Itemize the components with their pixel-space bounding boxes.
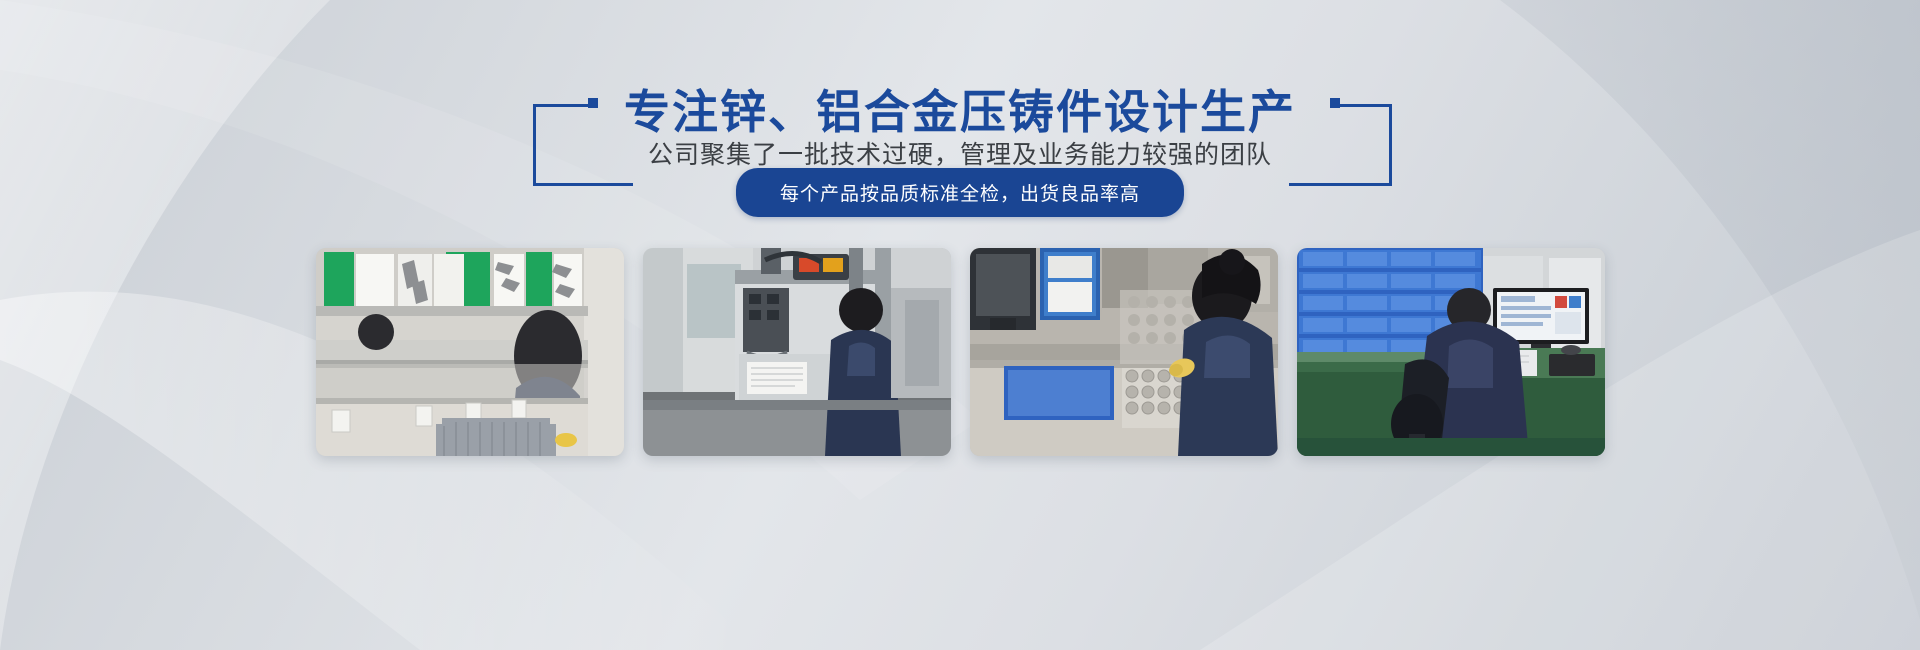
photo-card-quality-check[interactable] bbox=[970, 248, 1278, 456]
photo-gallery bbox=[0, 248, 1920, 456]
photo-card-machining-center[interactable] bbox=[643, 248, 951, 456]
page-subtitle: 公司聚集了一批技术过硬，管理及业务能力较强的团队 bbox=[0, 143, 1920, 168]
banner-root: 专注锌、铝合金压铸件设计生产 公司聚集了一批技术过硬，管理及业务能力较强的团队 … bbox=[0, 0, 1920, 650]
page-title: 专注锌、铝合金压铸件设计生产 bbox=[0, 89, 1920, 135]
photo-card-office-workstation[interactable] bbox=[1297, 248, 1605, 456]
quality-check-image bbox=[970, 248, 1278, 456]
headline-block: 专注锌、铝合金压铸件设计生产 公司聚集了一批技术过硬，管理及业务能力较强的团队 … bbox=[0, 0, 1920, 230]
office-workstation-image bbox=[1297, 248, 1605, 456]
packing-station-image bbox=[316, 248, 624, 456]
quality-badge: 每个产品按品质标准全检，出货良品率高 bbox=[736, 168, 1184, 217]
photo-card-packing-station[interactable] bbox=[316, 248, 624, 456]
machining-center-image bbox=[643, 248, 951, 456]
